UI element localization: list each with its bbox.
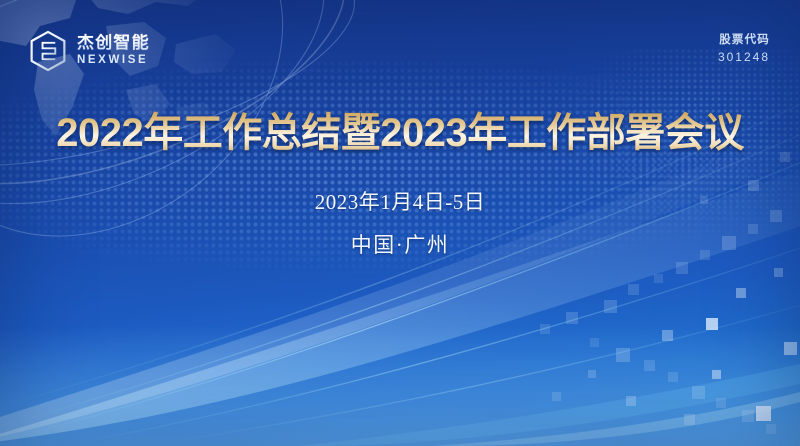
- conference-banner: 杰创智能 NEXWISE 股票代码 301248 2022年工作总结暨2023年…: [0, 0, 800, 446]
- decor-square: [552, 392, 561, 401]
- decor-square: [654, 274, 663, 283]
- page-title: 2022年工作总结暨2023年工作部署会议: [56, 100, 743, 158]
- decor-square: [676, 262, 688, 274]
- decor-square: [628, 284, 639, 295]
- decor-square: [742, 410, 754, 422]
- decor-square: [616, 348, 630, 362]
- brand-name-en: NEXWISE: [77, 52, 150, 68]
- stock-code-value: 301248: [718, 49, 770, 66]
- decor-square: [604, 300, 617, 313]
- decor-square: [774, 268, 783, 277]
- stock-code-block: 股票代码 301248: [718, 33, 770, 65]
- decor-square: [766, 424, 776, 434]
- decor-square: [590, 338, 599, 347]
- decor-square: [684, 414, 695, 425]
- decor-square: [644, 360, 655, 371]
- stock-code-label: 股票代码: [718, 33, 770, 49]
- decor-square: [716, 398, 726, 408]
- decor-square: [588, 370, 596, 378]
- decor-square: [712, 370, 721, 379]
- decor-square: [566, 312, 578, 324]
- decor-square: [784, 342, 797, 355]
- decor-square: [626, 396, 636, 406]
- banner-title-wrap: 2022年工作总结暨2023年工作部署会议: [0, 100, 800, 158]
- banner-date: 2023年1月4日-5日: [0, 186, 800, 216]
- brand-logo: 杰创智能 NEXWISE: [28, 30, 150, 72]
- brand-logo-text: 杰创智能 NEXWISE: [77, 34, 150, 69]
- decor-square: [662, 330, 673, 341]
- nexwise-cube-logo-icon: [28, 30, 68, 72]
- decor-square: [736, 288, 746, 298]
- decor-square: [668, 372, 678, 382]
- decor-square: [756, 406, 771, 421]
- banner-location: 中国·广州: [0, 229, 800, 259]
- decor-square: [706, 318, 718, 330]
- decor-square: [540, 324, 550, 334]
- brand-name-cn: 杰创智能: [77, 34, 150, 52]
- decor-square: [692, 386, 705, 399]
